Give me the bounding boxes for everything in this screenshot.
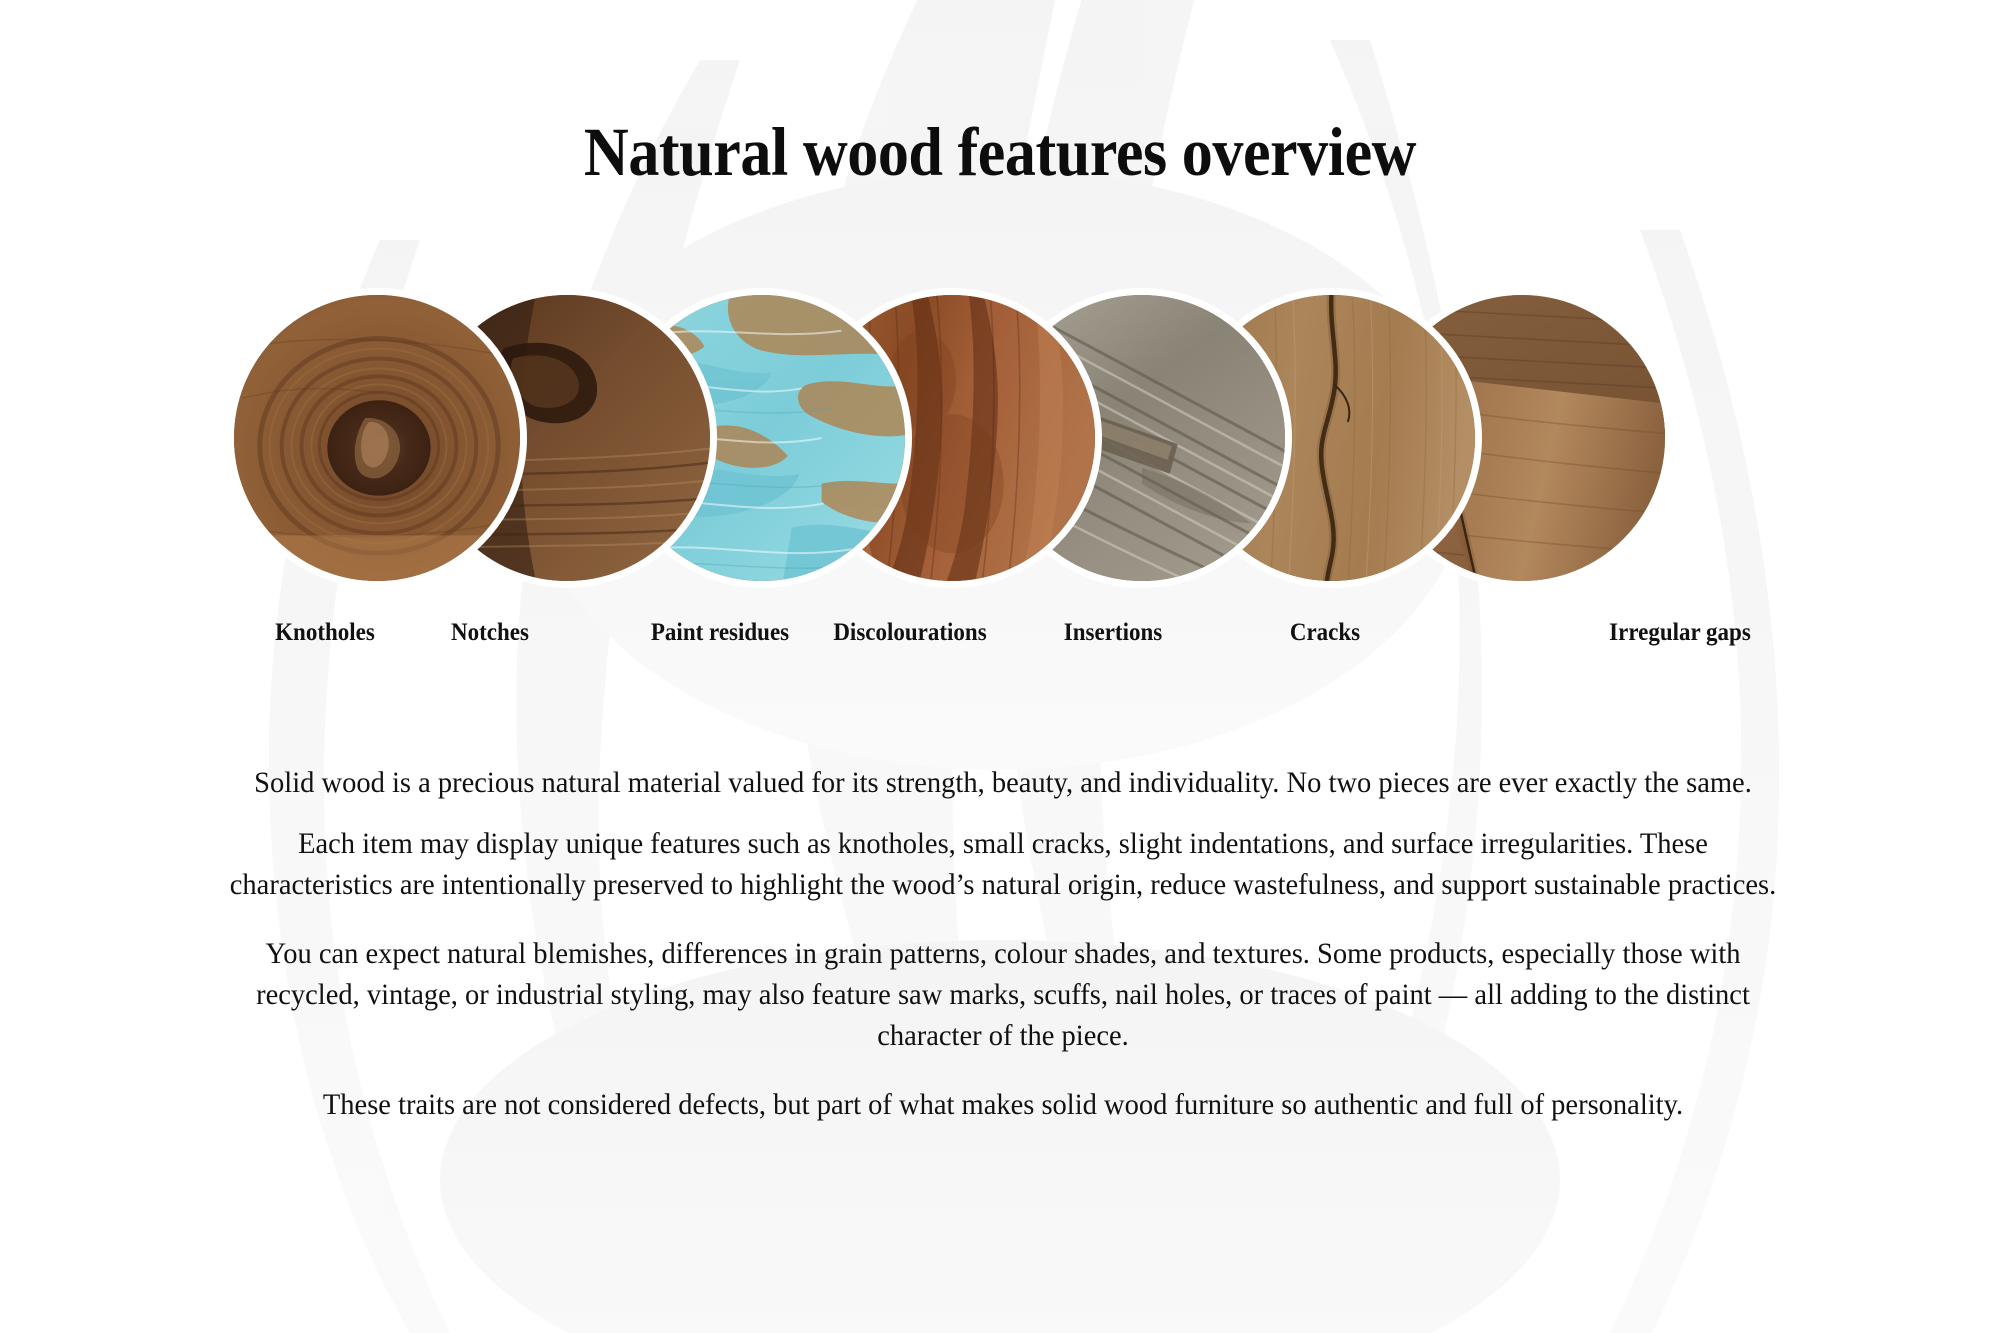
page-title: Natural wood features overview [100,118,1900,187]
body-paragraph-3: You can expect natural blemishes, differ… [219,933,1787,1056]
body-copy: Solid wood is a precious natural materia… [178,762,1828,1125]
feature-label-notches: Notches [407,618,573,648]
feature-item-knotholes[interactable] [227,288,527,588]
feature-label-row: Knotholes Notches Paint residues Discolo… [0,618,2000,652]
feature-label-insertions: Insertions [1021,618,1205,648]
body-paragraph-4: These traits are not considered defects,… [219,1084,1787,1125]
feature-label-discolourations: Discolourations [786,618,1034,648]
feature-circle-strip [227,288,1787,588]
body-paragraph-2: Each item may display unique features su… [219,823,1787,905]
feature-label-knotholes: Knotholes [242,618,408,648]
feature-label-irregular-gaps: Irregular gaps [1556,618,1804,648]
feature-label-cracks: Cracks [1242,618,1408,648]
body-paragraph-1: Solid wood is a precious natural materia… [219,762,1787,803]
wood-knothole-circle [227,288,527,588]
infographic-page: Natural wood features overview [0,0,2000,1333]
